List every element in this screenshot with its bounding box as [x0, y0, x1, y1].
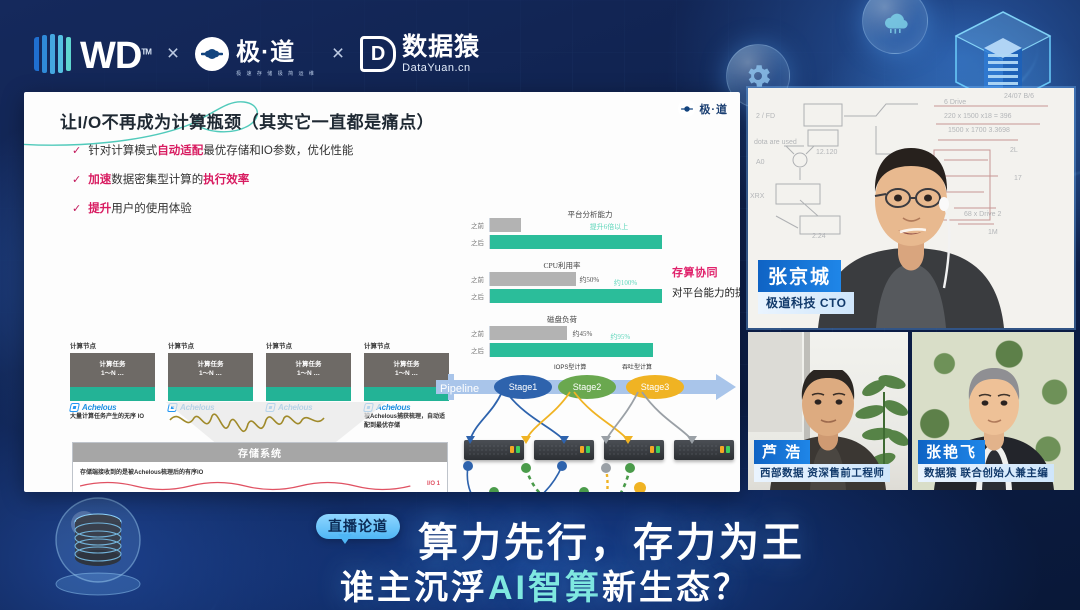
- speaker-role: 西部数据 资深售前工程师: [754, 464, 890, 482]
- datayuan-url: DataYuan.cn: [402, 62, 480, 74]
- compute-node-caption: 计算节点: [70, 340, 155, 350]
- bullet-item: ✓ 加速数据密集型计算的执行效率: [72, 171, 442, 187]
- wd-wordmark: WD: [80, 35, 141, 77]
- stage3-top-label: 吞吐型计算: [622, 362, 652, 371]
- chart-row-label: 之后: [462, 291, 484, 301]
- bullet-text-highlight-2: 执行效率: [203, 174, 249, 186]
- speaker-name: 张艳飞: [918, 440, 985, 464]
- datayuan-mark-icon: D: [360, 36, 396, 72]
- node-note-left: 大量计算任务产生的无序 IO: [70, 413, 155, 422]
- performance-bar-chart: 平台分析能力 之前 之后 提升6倍以上 CPU利用率: [462, 218, 662, 368]
- compute-node-caption: 计算节点: [168, 340, 253, 350]
- task-label-1: 计算任务: [394, 361, 420, 370]
- chart-value-after: 提升6倍以上: [590, 222, 629, 232]
- chart-track: 约95%: [489, 343, 662, 357]
- wd-trademark: TM: [141, 47, 151, 56]
- bullet-text-mid: 数据密集型计算的: [111, 174, 203, 186]
- chart-group-title: 磁盘负荷: [462, 314, 662, 325]
- jidao-mark-icon: [195, 37, 229, 71]
- speaker-name: 张京城: [758, 260, 841, 292]
- speaker-role: 数据猿 联合创始人兼主编: [918, 464, 1054, 482]
- datayuan-wordmark: 数据猿: [402, 35, 480, 60]
- chart-group: 磁盘负荷 之前 约45% 之后 约95%: [462, 314, 662, 357]
- storage-system-panel: 存储系统 存储端接收到的是被Achelous梳理后的有序IO I/O 1 I/O…: [72, 442, 448, 492]
- broadcast-screen: WDTM × 极·道 极 速 存 储 极 简 运 维 × D 数据猿: [0, 0, 1080, 610]
- chart-row-label: 之后: [462, 345, 484, 355]
- banner-headline-2: 谁主沉浮AI智算新生态？: [340, 560, 750, 609]
- task-label-2: 1～N …: [297, 370, 320, 379]
- io-wave-lines: [80, 478, 440, 492]
- annotation-body: 对平台能力的提升: [672, 285, 740, 300]
- chart-value-after: 约95%: [610, 332, 630, 342]
- video-tile-participant-1[interactable]: 芦 浩 西部数据 资深售前工程师: [748, 332, 908, 490]
- stage2-top-label: IOPS型计算: [554, 362, 586, 371]
- storage-note: 存储端接收到的是被Achelous梳理后的有序IO: [80, 467, 440, 476]
- check-icon: ✓: [72, 173, 81, 186]
- check-icon: ✓: [72, 144, 81, 157]
- slide-title: 让I/O不再成为计算瓶颈（其实它一直都是痛点）: [60, 108, 434, 133]
- chart-row-label: 之后: [462, 237, 484, 247]
- bullet-item: ✓ 提升用户的使用体验: [72, 200, 442, 216]
- chart-row-label: 之前: [462, 274, 484, 284]
- slide-brand-text: 极·道: [699, 101, 728, 117]
- pipeline-flow-arrows: [434, 388, 740, 492]
- node-teal-band: [266, 387, 351, 401]
- speaker-name: 芦 浩: [754, 440, 810, 464]
- presentation-slide[interactable]: 极·道 让I/O不再成为计算瓶颈（其实它一直都是痛点） ✓ 针对计算模式自动适配…: [24, 92, 740, 492]
- chart-track: 约45%: [489, 326, 662, 340]
- nameplate-participant-1: 芦 浩 西部数据 资深售前工程师: [754, 440, 890, 482]
- task-label-1: 计算任务: [198, 361, 224, 370]
- datayuan-logo: D 数据猿 DataYuan.cn: [360, 35, 480, 74]
- wd-logo-text: WDTM: [80, 38, 151, 74]
- wd-logo: WDTM: [34, 34, 151, 74]
- chart-bar-after: [490, 289, 662, 303]
- nameplate-participant-2: 张艳飞 数据猿 联合创始人兼主编: [918, 440, 1054, 482]
- video-tile-main[interactable]: 6 Drive220 x 1500 x18 = 396 1500 x 1700 …: [748, 88, 1074, 328]
- chart-group-title: CPU利用率: [462, 260, 662, 271]
- chart-group: 平台分析能力 之前 之后 提升6倍以上: [462, 218, 662, 249]
- task-label-1: 计算任务: [100, 361, 126, 370]
- chart-row: 之后 提升6倍以上: [462, 235, 662, 249]
- task-label-2: 1～N …: [101, 370, 124, 379]
- task-label-2: 1～N …: [199, 370, 222, 379]
- chart-row-label: 之前: [462, 328, 484, 338]
- task-label-2: 1～N …: [395, 370, 418, 379]
- chart-value-before: 约50%: [579, 275, 599, 285]
- bullet-text-highlight: 自动适配: [157, 145, 203, 157]
- storage-system-title: 存储系统: [73, 443, 447, 462]
- jidao-logo: 极·道 极 速 存 储 极 简 运 维: [195, 32, 316, 77]
- bullet-text-post: 最优存储和IO参数，优化性能: [203, 145, 353, 157]
- node-teal-band: [168, 387, 253, 401]
- bullet-item: ✓ 针对计算模式自动适配最优存储和IO参数，优化性能: [72, 142, 442, 158]
- compute-node-caption: 计算节点: [266, 340, 351, 350]
- chart-bar-before: [490, 272, 576, 286]
- annotation-title: 存算协同: [672, 264, 740, 280]
- badge-tail-icon: [338, 534, 352, 544]
- node-teal-band: [70, 387, 155, 401]
- database-sphere-decoration: [38, 480, 158, 600]
- compute-task-box: 计算任务 1～N …: [266, 353, 351, 387]
- compute-node: 计算节点 计算任务 1～N … Achelous 大量计算任务产生的无序 IO: [70, 340, 155, 430]
- storage-system-body: 存储端接收到的是被Achelous梳理后的有序IO I/O 1 I/O 2 I/…: [73, 462, 447, 492]
- video-tile-participant-2[interactable]: 张艳飞 数据猿 联合创始人兼主编: [912, 332, 1074, 490]
- slide-bullet-list: ✓ 针对计算模式自动适配最优存储和IO参数，优化性能 ✓ 加速数据密集型计算的执…: [72, 142, 442, 229]
- compute-task-box: 计算任务 1～N …: [70, 353, 155, 387]
- compute-nodes-diagram: 计算节点 计算任务 1～N … Achelous 大量计算任务产生的无序 IO …: [70, 340, 452, 430]
- live-topic-badge: 直播论道: [316, 516, 400, 536]
- chart-value-before: 约45%: [573, 329, 593, 339]
- achelous-mark-icon: [69, 403, 80, 412]
- compute-task-box: 计算任务 1～N …: [168, 353, 253, 387]
- gear-icon: [743, 61, 773, 91]
- cloud-icon: [879, 8, 911, 34]
- chart-group: CPU利用率 之前 约50% 之后 约100%: [462, 260, 662, 303]
- compute-node-caption: 计算节点: [364, 340, 449, 350]
- speaker-role: 极道科技 CTO: [758, 292, 854, 314]
- achelous-wordmark: Achelous: [82, 403, 116, 412]
- bullet-text-pre: 针对计算模式: [88, 145, 157, 157]
- jidao-wordmark: 极·道: [236, 32, 316, 67]
- jidao-mark-icon: [678, 100, 695, 117]
- nameplate-main: 张京城 极道科技 CTO: [758, 260, 854, 314]
- chart-bar-before: [490, 218, 521, 232]
- banner-headline-2-a: 谁主沉浮: [340, 569, 488, 607]
- banner-headline-2-highlight: AI智算: [488, 569, 602, 607]
- ordered-io-waves: I/O 1 I/O 2 I/O 3 I/O 4 I/O 5: [80, 478, 440, 492]
- chart-row-label: 之前: [462, 220, 484, 230]
- disk-stack-icon: [75, 514, 121, 566]
- check-icon: ✓: [72, 202, 81, 215]
- chart-bar-before: [490, 326, 567, 340]
- chart-bar-after: [490, 343, 653, 357]
- badge-label: 直播论道: [316, 514, 400, 539]
- chart-row: 之后 约100%: [462, 289, 662, 303]
- chart-bar-after: [490, 235, 662, 249]
- chart-track: 约100%: [489, 289, 662, 303]
- achelous-brand: Achelous: [70, 403, 155, 412]
- chart-track: [489, 218, 662, 232]
- chart-row: 之前: [462, 218, 662, 232]
- chart-row: 之前 约45%: [462, 326, 662, 340]
- bullet-text-highlight: 提升: [88, 203, 111, 215]
- logo-separator-2: ×: [332, 42, 344, 66]
- bullet-text-post: 用户的使用体验: [111, 203, 192, 215]
- task-label-1: 计算任务: [296, 361, 322, 370]
- slide-brand-logo: 极·道: [678, 100, 728, 117]
- bullet-text-highlight: 加速: [88, 174, 111, 186]
- chart-row: 之后 约95%: [462, 343, 662, 357]
- wd-wave-mark-icon: [34, 34, 71, 74]
- chart-value-after: 约100%: [614, 278, 637, 288]
- banner-headline-2-b: 新生态？: [602, 569, 750, 607]
- jidao-tagline: 极 速 存 储 极 简 运 维: [236, 70, 316, 77]
- logo-separator-1: ×: [167, 42, 179, 66]
- chart-annotation: 存算协同 对平台能力的提升: [672, 264, 740, 300]
- chart-track: 提升6倍以上: [489, 235, 662, 249]
- partner-logo-row: WDTM × 极·道 极 速 存 储 极 简 运 维 × D 数据猿: [34, 26, 480, 82]
